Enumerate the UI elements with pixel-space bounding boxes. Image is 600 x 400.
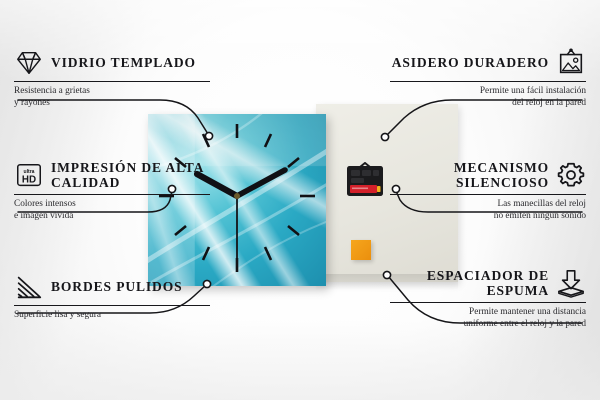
feature-bordes-pulidos: BORDES PULIDOS Superficie lisa y segura [14,272,210,322]
polished-edges-icon [14,272,44,302]
press-down-pad-icon [556,268,586,298]
feature-divider [390,81,586,82]
feature-title: BORDES PULIDOS [51,279,183,294]
feature-description: Permite una fácil instalación del reloj … [390,86,586,110]
feature-title: IMPRESIÓN DE ALTA CALIDAD [51,160,210,191]
feature-mecanismo-silencioso: MECANISMO SILENCIOSO Las manecillas del … [390,160,586,223]
feature-head: ESPACIADOR DE ESPUMA [390,268,586,299]
hd-label: HD [22,175,36,186]
feature-head: ultra HD IMPRESIÓN DE ALTA CALIDAD [14,160,210,191]
marker-1 [265,134,271,147]
marker-4 [288,226,299,235]
feature-divider [390,194,586,195]
feature-divider [14,81,210,82]
diamond-icon [14,48,44,78]
quartz-mechanism [344,162,386,200]
product-infographic: VIDRIO TEMPLADO Resistencia a grietas y … [0,0,600,400]
feature-description: Las manecillas del reloj no emiten ningú… [390,199,586,223]
feature-description: Resistencia a grietas y rayones [14,86,210,110]
feature-espaciador-de-espuma: ESPACIADOR DE ESPUMA Permite mantener un… [390,268,586,331]
feature-head: ASIDERO DURADERO [390,48,586,78]
feature-divider [14,305,210,306]
feature-divider [390,302,586,303]
feature-head: VIDRIO TEMPLADO [14,48,210,78]
marker-11 [203,134,209,147]
foam-spacer-piece [351,240,371,260]
feature-impresion-alta-calidad: ultra HD IMPRESIÓN DE ALTA CALIDAD Color… [14,160,210,223]
gear-icon [556,160,586,190]
feature-vidrio-templado: VIDRIO TEMPLADO Resistencia a grietas y … [14,48,210,110]
feature-head: MECANISMO SILENCIOSO [390,160,586,191]
marker-2 [288,158,299,167]
wall-frame-hanger-icon [556,48,586,78]
feature-description: Colores intensos e imagen vívida [14,199,210,223]
hands-pin [234,193,240,199]
feature-head: BORDES PULIDOS [14,272,210,302]
feature-description: Permite mantener una distancia uniforme … [390,307,586,331]
feature-title: ESPACIADOR DE ESPUMA [390,268,549,299]
feature-asidero-duradero: ASIDERO DURADERO Permite una fácil insta… [390,48,586,110]
marker-8 [175,226,186,235]
feature-title: MECANISMO SILENCIOSO [390,160,549,191]
feature-title: ASIDERO DURADERO [392,55,549,70]
feature-title: VIDRIO TEMPLADO [51,55,196,70]
feature-description: Superficie lisa y segura [14,310,210,322]
feature-divider [14,194,210,195]
ultra-hd-icon: ultra HD [14,160,44,190]
